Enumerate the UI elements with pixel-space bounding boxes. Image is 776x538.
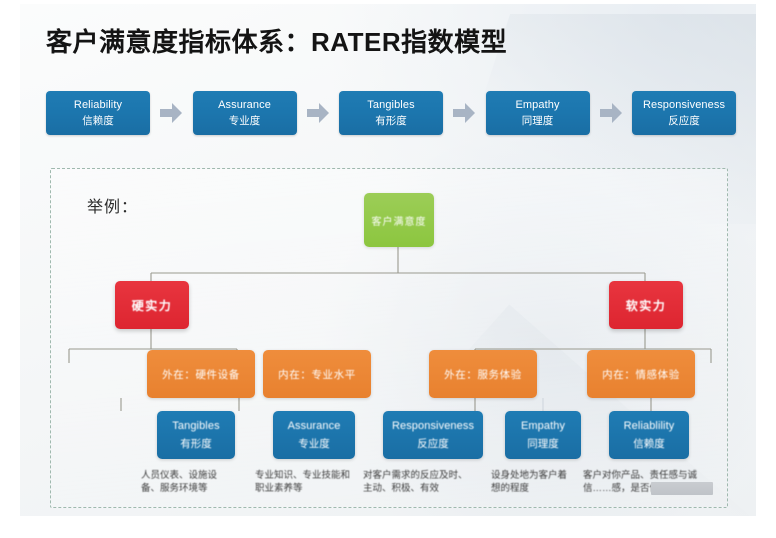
tree-leaf-cn: 信赖度 xyxy=(633,436,665,451)
rater-item-cn: 同理度 xyxy=(522,115,554,128)
tree-leaf-responsiveness[interactable]: Responsiveness 反应度 xyxy=(383,411,483,459)
tree-leaf-cn: 有形度 xyxy=(180,436,212,451)
rater-item-cn: 有形度 xyxy=(375,115,407,128)
slide-canvas: 客户满意度指标体系：RATER指数模型 Reliability 信赖度 Assu… xyxy=(20,4,756,516)
redaction-block xyxy=(651,482,713,495)
tree-node-label: 软实力 xyxy=(626,297,667,314)
tree-node-dimension-service[interactable]: 外在：服务体验 xyxy=(429,350,537,398)
tree-node-label: 硬实力 xyxy=(132,297,173,314)
tree-leaf-cn: 专业度 xyxy=(298,436,330,451)
page-title: 客户满意度指标体系：RATER指数模型 xyxy=(46,22,507,59)
tree-node-label: 外在：硬件设备 xyxy=(162,367,240,382)
tree-node-label: 内在：专业水平 xyxy=(278,367,356,382)
tree-node-dimension-expertise[interactable]: 内在：专业水平 xyxy=(263,350,371,398)
rater-item-cn: 反应度 xyxy=(668,115,700,128)
tree-node-label: 外在：服务体验 xyxy=(444,367,522,382)
right-arrow-icon xyxy=(590,101,633,125)
rater-item-empathy[interactable]: Empathy 同理度 xyxy=(486,91,590,135)
rater-item-tangibles[interactable]: Tangibles 有形度 xyxy=(339,91,443,135)
leaf-caption-tangibles: 人员仪表、设施设备、服务环境等 xyxy=(141,469,235,495)
tree-leaf-en: Assurance xyxy=(288,420,341,432)
rater-item-en: Empathy xyxy=(515,99,559,112)
rater-item-cn: 信赖度 xyxy=(82,115,114,128)
tree-leaf-cn: 反应度 xyxy=(417,436,449,451)
tree-node-root[interactable]: 客户满意度 xyxy=(364,193,434,247)
rater-item-en: Reliability xyxy=(74,99,122,112)
leaf-caption-assurance: 专业知识、专业技能和职业素养等 xyxy=(255,469,351,495)
leaf-caption-empathy: 设身处地为客户着想的程度 xyxy=(491,469,573,495)
tree-node-label: 客户满意度 xyxy=(372,213,427,228)
leaf-caption-responsiveness: 对客户需求的反应及时、主动、积极、有效 xyxy=(363,469,475,495)
right-arrow-icon xyxy=(297,101,340,125)
rater-chain: Reliability 信赖度 Assurance 专业度 Tangibles … xyxy=(46,88,736,138)
rater-item-responsiveness[interactable]: Responsiveness 反应度 xyxy=(632,91,736,135)
rater-item-en: Assurance xyxy=(218,99,271,112)
rater-item-en: Responsiveness xyxy=(643,99,725,112)
tree-leaf-en: Reliablility xyxy=(624,420,675,432)
example-panel: 举例： xyxy=(50,168,728,508)
tree-leaf-assurance[interactable]: Assurance 专业度 xyxy=(273,411,355,459)
rater-item-cn: 专业度 xyxy=(229,115,261,128)
tree-node-hard-power[interactable]: 硬实力 xyxy=(115,281,189,329)
tree-node-dimension-emotion[interactable]: 内在：情感体验 xyxy=(587,350,695,398)
tree-leaf-cn: 同理度 xyxy=(527,436,559,451)
tree-leaf-reliability[interactable]: Reliablility 信赖度 xyxy=(609,411,689,459)
tree-node-soft-power[interactable]: 软实力 xyxy=(609,281,683,329)
tree-leaf-tangibles[interactable]: Tangibles 有形度 xyxy=(157,411,235,459)
tree-leaf-empathy[interactable]: Empathy 同理度 xyxy=(505,411,581,459)
tree-node-dimension-hardware[interactable]: 外在：硬件设备 xyxy=(147,350,255,398)
right-arrow-icon xyxy=(150,101,193,125)
rater-item-assurance[interactable]: Assurance 专业度 xyxy=(193,91,297,135)
right-arrow-icon xyxy=(443,101,486,125)
tree-leaf-en: Responsiveness xyxy=(392,420,474,432)
tree-node-label: 内在：情感体验 xyxy=(602,367,680,382)
tree-leaf-en: Empathy xyxy=(521,420,565,432)
tree-leaf-en: Tangibles xyxy=(172,420,219,432)
rater-item-reliability[interactable]: Reliability 信赖度 xyxy=(46,91,150,135)
rater-item-en: Tangibles xyxy=(367,99,414,112)
